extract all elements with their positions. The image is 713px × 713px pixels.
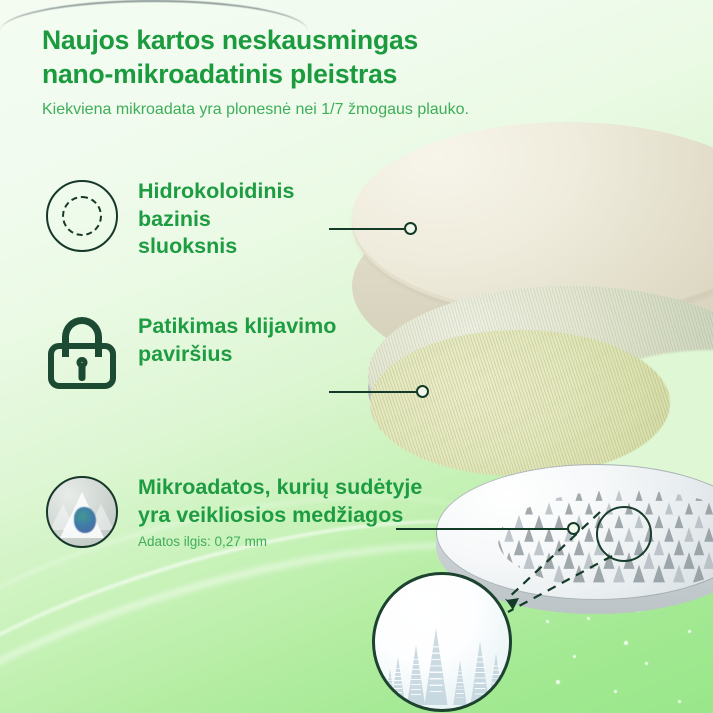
microneedle-spike bbox=[525, 503, 533, 515]
microneedle-spike bbox=[655, 490, 662, 501]
microneedle-spike bbox=[695, 490, 702, 501]
microneedle-spike bbox=[675, 515, 684, 528]
lock-icon bbox=[44, 313, 120, 389]
microneedle-spike bbox=[498, 565, 505, 583]
microneedle-spike bbox=[684, 527, 694, 541]
microneedle-spike bbox=[573, 565, 585, 583]
sparkle-dot bbox=[573, 655, 576, 658]
microneedle-spike bbox=[585, 503, 593, 515]
microneedle-spike bbox=[515, 515, 524, 528]
microneedle-spike bbox=[535, 515, 544, 528]
microneedle-spike bbox=[503, 552, 514, 569]
magnified-microneedle-spike bbox=[424, 628, 447, 705]
microneedle-spike bbox=[664, 527, 674, 541]
feature-microneedle: Mikroadatos, kurių sudėtyje yra veiklios… bbox=[44, 474, 422, 550]
hydrocolloid-layer-face bbox=[352, 122, 713, 314]
microneedle-spike bbox=[673, 565, 685, 583]
microneedle-spike bbox=[523, 552, 534, 569]
feature-title: Patikimas klijavimo paviršius bbox=[138, 313, 336, 368]
microneedle-spike bbox=[605, 503, 613, 515]
microneedle-spike bbox=[565, 503, 573, 515]
microneedle-spike bbox=[595, 515, 604, 528]
magnified-microneedle-spike bbox=[470, 641, 489, 705]
microneedle-spike bbox=[583, 552, 594, 569]
hydrocolloid-layer-edge bbox=[352, 190, 713, 382]
microneedle-spike bbox=[514, 540, 524, 555]
microneedle-spike bbox=[595, 490, 602, 501]
hydrocolloid-circle-icon bbox=[44, 178, 120, 254]
page-title: Naujos kartos neskausmingas nano-mikroad… bbox=[42, 24, 602, 91]
dashed-circle-shape bbox=[62, 196, 102, 236]
sparkle-dot bbox=[556, 680, 560, 684]
header-block: Naujos kartos neskausmingas nano-mikroad… bbox=[42, 24, 602, 121]
feature-text-block: Hidrokoloidinis bazinis sluoksnis bbox=[138, 178, 294, 261]
microneedle-spike bbox=[513, 565, 525, 583]
microneedle-spike bbox=[615, 515, 624, 528]
magnified-microneedle-spike bbox=[488, 653, 503, 705]
microneedle-spike bbox=[533, 565, 545, 583]
lock-keyhole-stem-shape bbox=[79, 366, 86, 381]
microneedle-spike bbox=[695, 515, 704, 528]
leader-dot-hydrocolloid bbox=[404, 222, 417, 235]
sparkle-dot bbox=[624, 641, 628, 645]
microneedle-spike bbox=[604, 527, 614, 541]
magnified-microneedle-spike bbox=[453, 661, 466, 705]
microneedle-spike bbox=[593, 565, 605, 583]
microneedle-spike bbox=[643, 552, 654, 569]
microneedle-spike bbox=[535, 490, 542, 501]
microneedle-spike bbox=[534, 540, 544, 555]
sparkle-dot bbox=[546, 620, 549, 623]
leader-dot-microneedle bbox=[567, 522, 580, 535]
microneedle-spike bbox=[603, 552, 614, 569]
microneedle-spike bbox=[594, 540, 604, 555]
microneedle-spike bbox=[703, 552, 713, 569]
microneedle-spike bbox=[574, 540, 584, 555]
microneedle-array bbox=[498, 490, 713, 590]
microneedle-spike bbox=[553, 565, 565, 583]
microneedle-spike bbox=[545, 503, 553, 515]
adhesive-layer-face bbox=[368, 286, 713, 464]
leader-dot-adhesive bbox=[416, 385, 429, 398]
microneedle-spike bbox=[613, 565, 625, 583]
sparkle-dot bbox=[600, 596, 605, 601]
adhesive-layer-cutout bbox=[560, 350, 713, 500]
sparkle-dot bbox=[587, 617, 590, 620]
microneedle-spike bbox=[575, 490, 582, 501]
microneedle-spike bbox=[563, 552, 574, 569]
feature-text-block: Mikroadatos, kurių sudėtyje yra veiklios… bbox=[138, 474, 422, 549]
magnified-microneedle-spike bbox=[385, 669, 396, 705]
microneedle-spike bbox=[555, 490, 562, 501]
microneedle-spike bbox=[498, 540, 504, 555]
feature-text-block: Patikimas klijavimo paviršius bbox=[138, 313, 336, 368]
feature-title: Mikroadatos, kurių sudėtyje yra veiklios… bbox=[138, 474, 422, 529]
microneedle-spike bbox=[663, 552, 674, 569]
microneedle-spike bbox=[693, 565, 705, 583]
microneedle-spike bbox=[505, 503, 513, 515]
microneedle-spike bbox=[498, 515, 503, 528]
magnifier-target-ring bbox=[596, 506, 652, 562]
microneedle-spike bbox=[675, 490, 682, 501]
magnified-microneedle-spike bbox=[391, 657, 405, 705]
adhesive-layer-front-texture bbox=[370, 330, 670, 476]
microneedle-spike bbox=[615, 490, 622, 501]
sparkle-dot bbox=[663, 594, 666, 597]
microneedle-spike bbox=[635, 490, 642, 501]
magnified-microneedle-spike bbox=[407, 645, 425, 705]
microneedle-spike bbox=[554, 540, 564, 555]
leader-line-adhesive bbox=[329, 391, 418, 393]
microneedle-spike bbox=[655, 515, 664, 528]
microneedle-spike bbox=[683, 552, 694, 569]
pyramid-photo-shape bbox=[46, 476, 118, 548]
feature-hydrocolloid: Hidrokoloidinis bazinis sluoksnis bbox=[44, 178, 294, 261]
microneedle-spike bbox=[705, 503, 713, 515]
adhesive-layer-texture bbox=[368, 286, 713, 464]
microneedle-spike bbox=[634, 540, 644, 555]
feature-title: Hidrokoloidinis bazinis sluoksnis bbox=[138, 178, 294, 261]
microneedle-spike bbox=[584, 527, 594, 541]
microneedle-spike bbox=[623, 552, 634, 569]
feature-adhesive: Patikimas klijavimo paviršius bbox=[44, 313, 336, 389]
microneedle-spike bbox=[555, 515, 564, 528]
leader-line-hydrocolloid bbox=[329, 228, 406, 230]
needle-length-caption: Adatos ilgis: 0,27 mm bbox=[138, 534, 422, 549]
microneedle-spike bbox=[498, 490, 503, 501]
microneedle-spike bbox=[694, 540, 704, 555]
microneedle-pyramid-icon bbox=[44, 474, 120, 550]
microneedle-magnified-view bbox=[372, 572, 512, 712]
sparkle-dot bbox=[614, 690, 617, 693]
microneedle-spike bbox=[653, 565, 665, 583]
sparkle-dot bbox=[688, 630, 691, 633]
active-ingredient-blob bbox=[74, 507, 96, 533]
adhesive-layer-front bbox=[370, 330, 670, 476]
microneedle-spike bbox=[685, 503, 693, 515]
microneedle-spike bbox=[543, 552, 554, 569]
product-infographic: Naujos kartos neskausmingas nano-mikroad… bbox=[0, 0, 713, 713]
sparkle-dot bbox=[636, 608, 640, 612]
page-subtitle: Kiekviena mikroadata yra plonesnė nei 1/… bbox=[42, 100, 602, 121]
microneedle-spike bbox=[515, 490, 522, 501]
microneedle-spike bbox=[704, 527, 713, 541]
microneedle-spike bbox=[624, 527, 634, 541]
sparkle-dot bbox=[645, 662, 648, 665]
microneedle-spike bbox=[674, 540, 684, 555]
microneedle-spike bbox=[645, 503, 653, 515]
microneedle-layer-edge bbox=[436, 478, 713, 614]
microneedle-spike bbox=[625, 503, 633, 515]
microneedle-spike bbox=[644, 527, 654, 541]
microneedle-spike bbox=[614, 540, 624, 555]
microneedle-spike bbox=[633, 565, 645, 583]
microneedle-spike bbox=[665, 503, 673, 515]
microneedle-spike bbox=[635, 515, 644, 528]
microneedle-spike bbox=[654, 540, 664, 555]
sparkle-dot bbox=[678, 700, 681, 703]
